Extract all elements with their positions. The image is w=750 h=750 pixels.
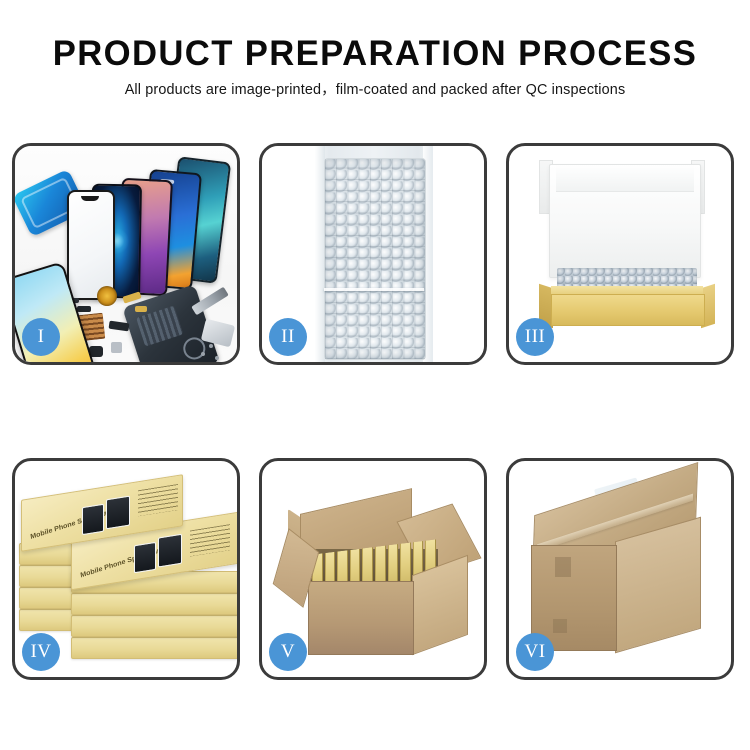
carton-flap-tab — [553, 619, 567, 633]
wrap-seam — [324, 288, 424, 291]
part-small-flex — [77, 306, 91, 312]
step-badge-4: IV — [22, 633, 60, 671]
step-1-image: I — [15, 146, 237, 362]
carton-flap-tab — [555, 557, 571, 577]
process-step-1: I — [12, 143, 240, 365]
screw-icon — [209, 344, 213, 348]
screw-icon — [215, 356, 219, 360]
box-spec-list — [190, 524, 230, 556]
process-step-5: V — [259, 458, 487, 680]
process-step-2: II — [259, 143, 487, 365]
box-tray-front — [551, 294, 705, 326]
part-gold-connector — [135, 306, 147, 312]
header: PRODUCT PREPARATION PROCESS All products… — [0, 34, 750, 99]
step-badge-3: III — [516, 318, 554, 356]
speaker-coil-icon — [97, 286, 117, 306]
step-badge-6: VI — [516, 633, 554, 671]
part-shield-can — [111, 342, 122, 353]
product-preparation-infographic: PRODUCT PREPARATION PROCESS All products… — [0, 0, 750, 750]
step-badge-1: I — [22, 318, 60, 356]
process-step-grid: I II — [12, 143, 738, 680]
screw-icon — [201, 352, 205, 356]
box-lid-white — [549, 164, 701, 278]
phone-glass-white — [67, 190, 115, 300]
page-title: PRODUCT PREPARATION PROCESS — [4, 34, 747, 74]
box-phone-image — [134, 542, 156, 573]
step-badge-5: V — [269, 633, 307, 671]
box-phone-image — [106, 496, 130, 530]
step-6-image: VI — [509, 461, 731, 677]
bubble-wrapped-product — [324, 158, 426, 360]
step-2-image: II — [262, 146, 484, 362]
box-spec-list — [138, 484, 178, 516]
box-phone-image — [158, 534, 182, 568]
process-step-6: VI — [506, 458, 734, 680]
step-5-image: V — [262, 461, 484, 677]
step-3-image: III — [509, 146, 731, 362]
stacked-box — [71, 615, 237, 637]
process-step-3: III — [506, 143, 734, 365]
carton-front-panel — [308, 581, 414, 655]
box-phone-image — [82, 504, 104, 535]
carton-side-panel — [615, 517, 701, 654]
stacked-box — [71, 637, 237, 659]
page-subtitle: All products are image-printed，film-coat… — [0, 81, 750, 99]
step-4-image: Mobile Phone Spare Parts Mobile Phone Sp… — [15, 461, 237, 677]
process-step-4: Mobile Phone Spare Parts Mobile Phone Sp… — [12, 458, 240, 680]
stacked-box — [71, 593, 237, 615]
step-badge-2: II — [269, 318, 307, 356]
